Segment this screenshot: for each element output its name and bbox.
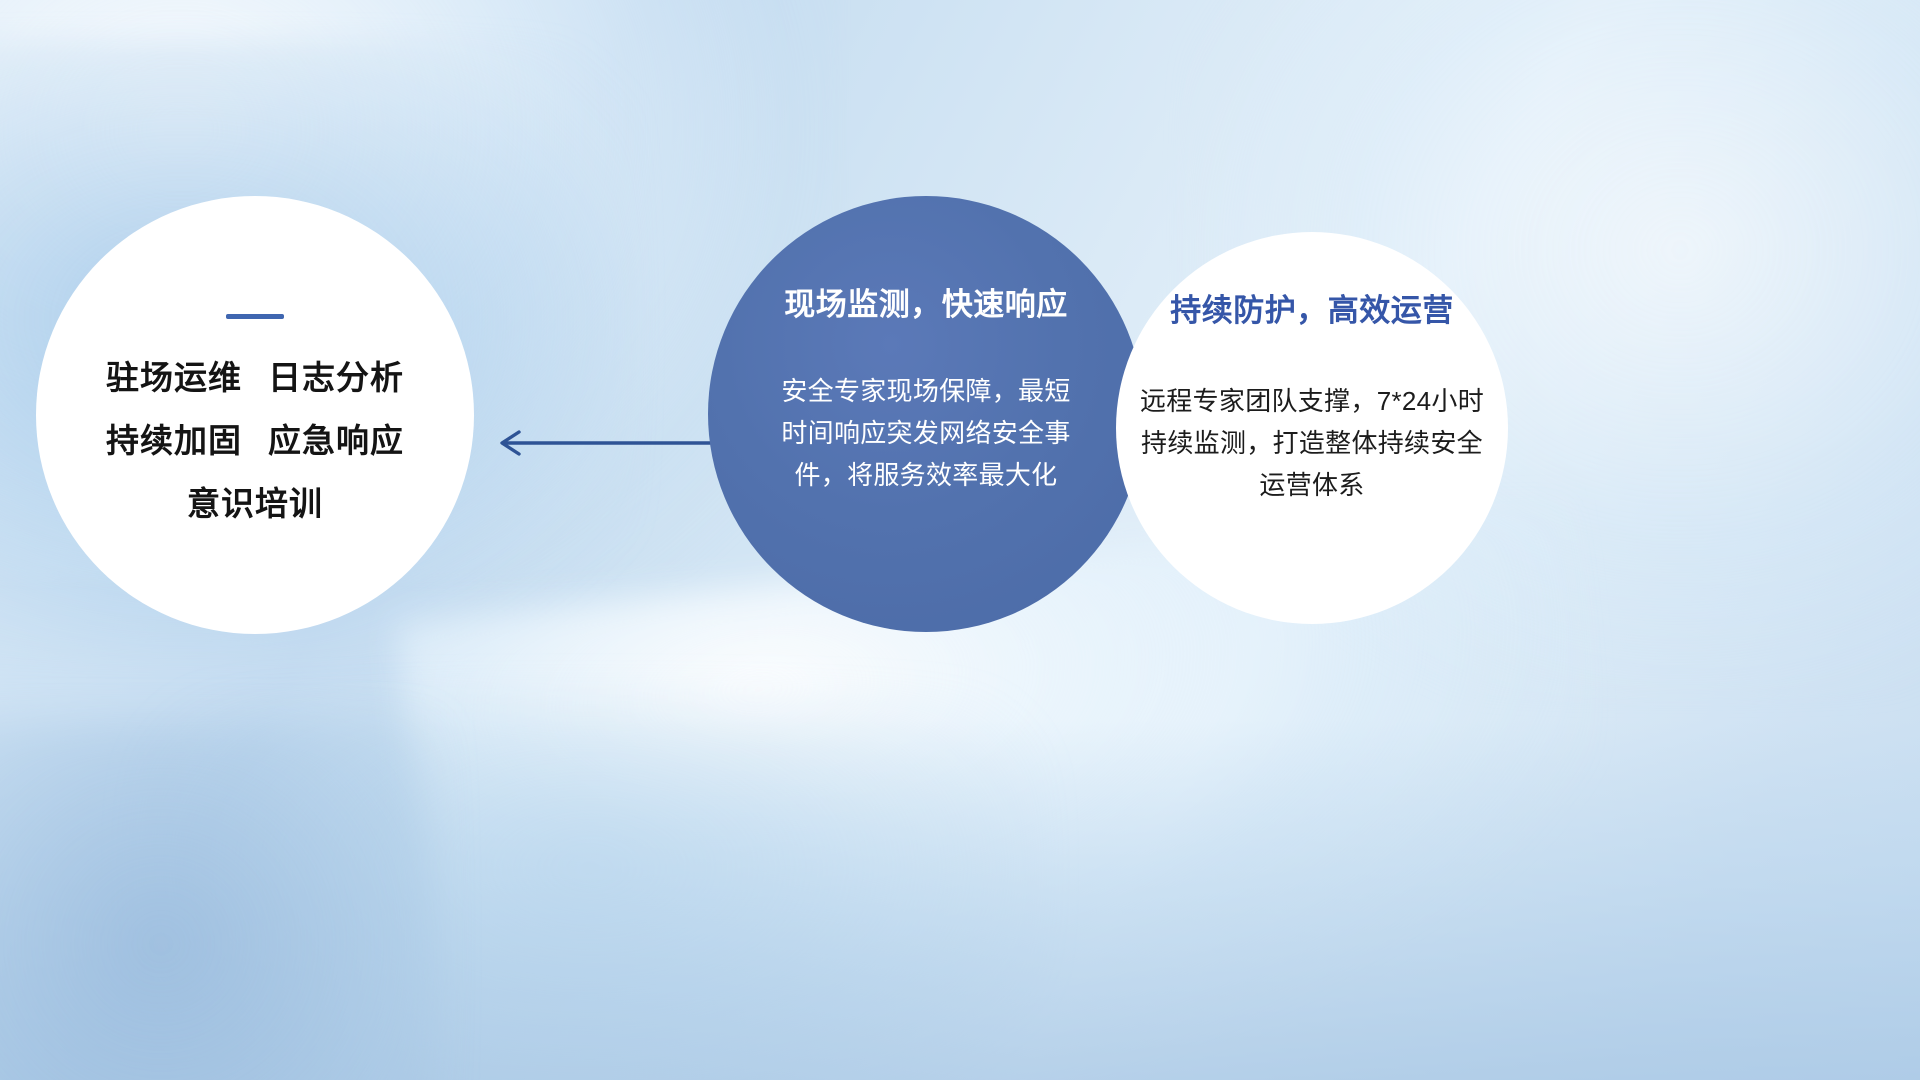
capability-list: 驻场运维日志分析 持续加固应急响应 意识培训 bbox=[106, 361, 404, 520]
capability-label: 驻场运维 bbox=[106, 359, 242, 396]
flow-arrow-icon bbox=[488, 414, 718, 472]
list-item: 持续加固应急响应 bbox=[106, 424, 404, 457]
capability-label: 日志分析 bbox=[268, 359, 404, 396]
capability-label: 持续加固 bbox=[106, 422, 242, 459]
middle-circle-body: 安全专家现场保障，最短时间响应突发网络安全事件，将服务效率最大化 bbox=[776, 370, 1076, 496]
list-item: 意识培训 bbox=[187, 487, 323, 520]
right-circle-body: 远程专家团队支撑，7*24小时持续监测，打造整体持续安全运营体系 bbox=[1138, 380, 1486, 506]
capability-label: 应急响应 bbox=[268, 422, 404, 459]
title-divider-dash bbox=[226, 314, 284, 319]
slide-canvas: 驻场运维日志分析 持续加固应急响应 意识培训 现场监测，快速响应 安全专家现场保… bbox=[0, 0, 1920, 1080]
right-circle-title: 持续防护，高效运营 bbox=[1170, 294, 1454, 328]
capability-circle-left[interactable]: 驻场运维日志分析 持续加固应急响应 意识培训 bbox=[36, 196, 474, 634]
background-corner-bottom-left bbox=[0, 720, 440, 1080]
capability-label: 意识培训 bbox=[187, 485, 323, 522]
middle-circle-title: 现场监测，快速响应 bbox=[784, 288, 1068, 322]
capability-circle-middle[interactable]: 现场监测，快速响应 安全专家现场保障，最短时间响应突发网络安全事件，将服务效率最… bbox=[708, 196, 1144, 632]
capability-circle-right[interactable]: 持续防护，高效运营 远程专家团队支撑，7*24小时持续监测，打造整体持续安全运营… bbox=[1116, 232, 1508, 624]
list-item: 驻场运维日志分析 bbox=[106, 361, 404, 394]
